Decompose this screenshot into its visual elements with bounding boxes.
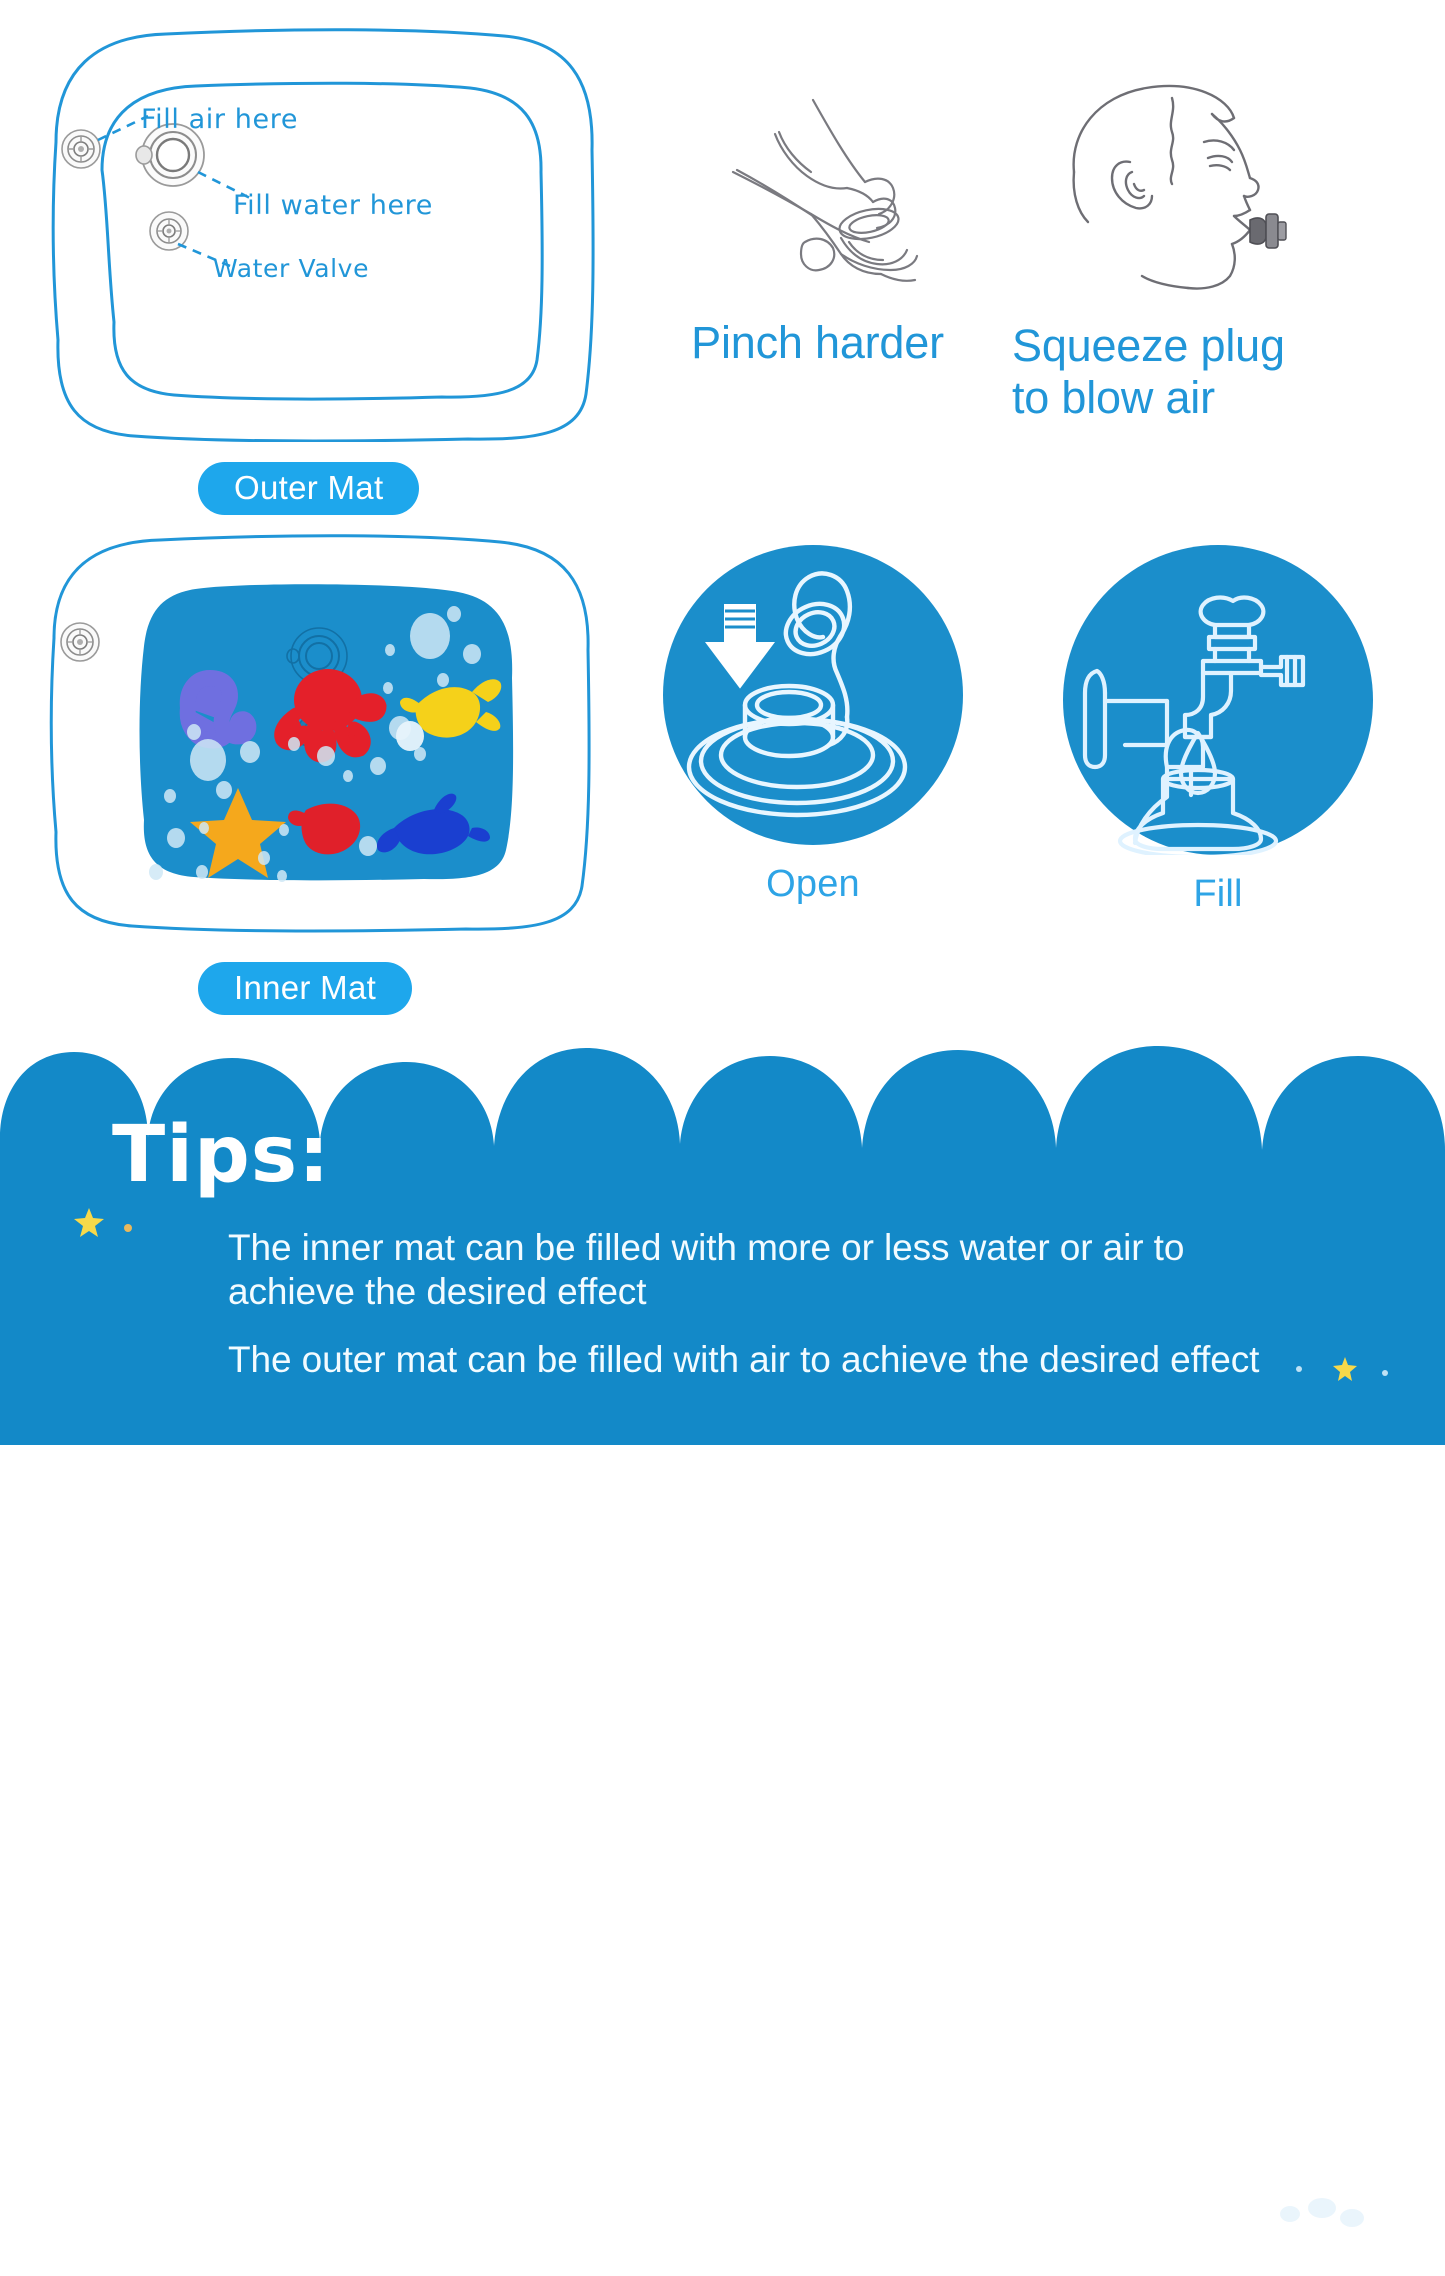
inner-mat-figure — [38, 528, 603, 938]
outer-mat-figure: Fill air here Fill water here Water Valv… — [38, 22, 603, 442]
dot-sparkle-icon — [1380, 1368, 1390, 1378]
faucet-water-drop-icon[interactable] — [1063, 545, 1373, 855]
tip-line-2: The outer mat can be filled with air to … — [228, 1338, 1288, 1382]
step-fill: Fill — [1063, 545, 1373, 916]
creature-fish-red — [288, 804, 360, 855]
star-sparkle-icon — [72, 1206, 106, 1240]
dot-sparkle-icon — [122, 1222, 134, 1234]
callout-label-water-valve: Water Valve — [213, 254, 369, 283]
sea-creature-group — [38, 528, 603, 938]
creature-dolphin — [377, 794, 490, 855]
badge-outer-mat: Outer Mat — [198, 462, 419, 515]
callout-leader-lines — [38, 22, 603, 442]
caption-squeeze-line1: Squeeze plug — [1012, 320, 1412, 372]
caption-fill: Fill — [1063, 873, 1373, 916]
valve-open-arrow-icon[interactable] — [663, 545, 963, 845]
caption-pinch-harder: Pinch harder — [625, 305, 1010, 369]
panel-pinch-harder: Pinch harder — [625, 90, 1010, 369]
cloud-icon — [1228, 2156, 1418, 2276]
tip-line-1: The inner mat can be filled with more or… — [228, 1226, 1288, 1313]
panel-squeeze-plug: Squeeze plug to blow air — [1012, 80, 1412, 424]
callout-label-fill-air: Fill air here — [141, 104, 298, 135]
down-arrow-icon — [707, 605, 773, 687]
step-open: Open — [663, 545, 963, 906]
water-bubble-accent — [396, 721, 424, 751]
mouth-plug-icon — [1250, 214, 1286, 248]
caption-squeeze-line2: to blow air — [1012, 372, 1412, 424]
head-blowing-plug-sketch — [1012, 80, 1412, 308]
infographic-canvas: Fill air here Fill water here Water Valv… — [0, 0, 1445, 1445]
badge-inner-mat: Inner Mat — [198, 962, 412, 1015]
caption-open: Open — [663, 863, 963, 906]
callout-label-fill-water: Fill water here — [233, 190, 433, 221]
star-sparkle-icon — [1332, 1356, 1358, 1382]
dot-sparkle-icon — [1294, 1364, 1304, 1374]
caption-squeeze-plug: Squeeze plug to blow air — [1012, 308, 1412, 424]
tips-title: Tips: — [112, 1116, 330, 1194]
hand-pinching-valve-sketch — [625, 90, 1010, 305]
